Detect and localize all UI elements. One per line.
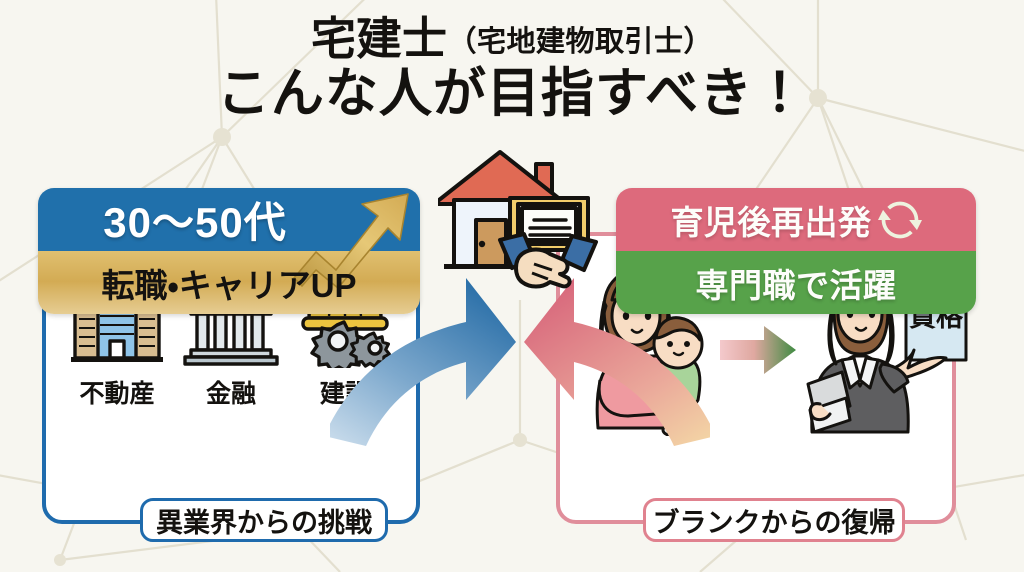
title-subject-full: （宅地建物取引士） [448, 26, 714, 58]
left-card-badge: 異業界からの挑戦 [140, 498, 388, 542]
page-title: 宅建士（宅地建物取引士） こんな人が目指すべき！ [0, 14, 1024, 122]
age-range-banner: 30〜50代 [38, 188, 420, 251]
refresh-cycle-icon [878, 198, 922, 242]
right-card-banner: 育児後再出発 専門職で活躍 [616, 188, 976, 314]
industry-label: 金融 [177, 374, 285, 410]
infographic-slide: 宅建士（宅地建物取引士） こんな人が目指すべき！ [0, 0, 1024, 572]
industry-label: 建設 [291, 374, 399, 410]
restart-banner: 育児後再出発 [616, 188, 976, 251]
restart-label: 育児後再出発 [671, 196, 872, 244]
career-up-label: 転職・キャリアUP [101, 259, 356, 307]
age-range-label: 30〜50代 [103, 189, 286, 250]
title-line-one: 宅建士（宅地建物取引士） [0, 14, 1024, 64]
title-line-two: こんな人が目指すべき！ [0, 66, 1024, 122]
right-card-badge: ブランクからの復帰 [643, 498, 905, 542]
specialist-banner: 専門職で活躍 [616, 251, 976, 314]
industry-label: 不動産 [63, 374, 171, 410]
title-subject: 宅建士 [311, 13, 448, 64]
green-right-arrow [718, 323, 798, 377]
left-card-banner: 30〜50代 転職・キャリアUP [38, 188, 420, 314]
house-handshake-certificate-icon [438, 142, 606, 292]
specialist-label: 専門職で活躍 [696, 259, 897, 307]
